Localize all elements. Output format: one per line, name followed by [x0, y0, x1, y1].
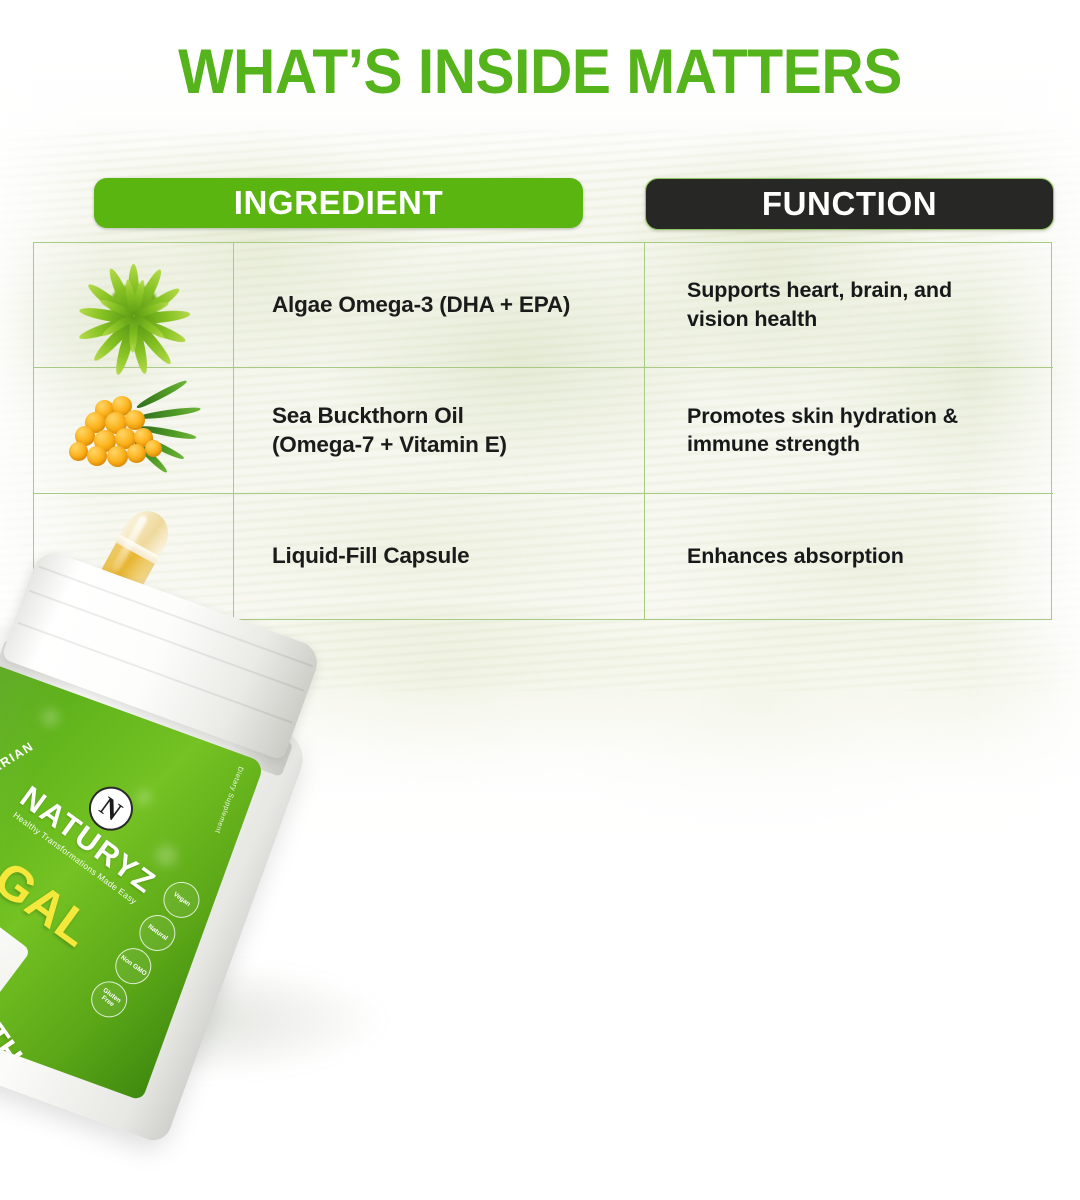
table-row-1-ingredient-cell: Algae Omega-3 (DHA + EPA) [234, 243, 645, 368]
function-label: Promotes skin hydration & immune strengt… [687, 402, 958, 460]
function-label: Enhances absorption [687, 542, 904, 571]
table-row-2-icon-cell [34, 368, 234, 493]
page-title: WHAT’S INSIDE MATTERS [38, 36, 1042, 108]
algae-seaweed-icon [59, 249, 209, 361]
table-row-1-function-cell: Supports heart, brain, and vision health [645, 243, 1053, 368]
bottle-side-vertical-text: Dietary Supplement [213, 765, 244, 834]
sea-buckthorn-berries-icon [59, 374, 209, 486]
function-label: Supports heart, brain, and vision health [687, 276, 952, 334]
table-row-3-function-cell: Enhances absorption [645, 494, 1053, 619]
table-row-2-ingredient-cell: Sea Buckthorn Oil (Omega-7 + Vitamin E) [234, 368, 645, 493]
header-ingredient: INGREDIENT [94, 178, 583, 228]
table-row-3-ingredient-cell: Liquid-Fill Capsule [234, 494, 645, 619]
header-function: FUNCTION [645, 178, 1054, 230]
table-row-2-function-cell: Promotes skin hydration & immune strengt… [645, 368, 1053, 493]
ingredient-label: Sea Buckthorn Oil (Omega-7 + Vitamin E) [272, 401, 507, 460]
ingredient-function-table: Algae Omega-3 (DHA + EPA) Supports heart… [33, 242, 1052, 620]
ingredient-label: Liquid-Fill Capsule [272, 541, 469, 571]
table-row-1-icon-cell [34, 243, 234, 368]
ingredient-label: Algae Omega-3 (DHA + EPA) [272, 290, 570, 320]
